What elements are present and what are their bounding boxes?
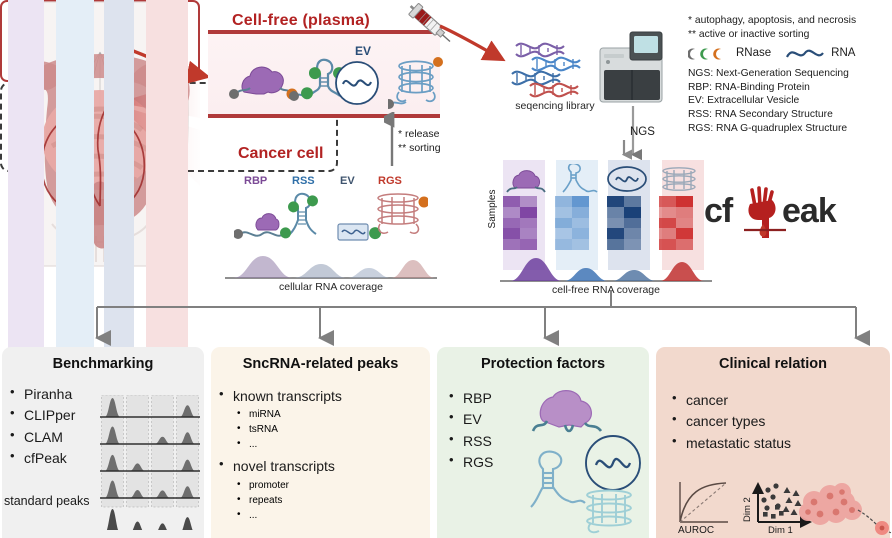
heatmap-cell bbox=[520, 196, 537, 207]
cfpeak-logo: cf eak bbox=[704, 186, 826, 244]
arrow-plasma-to-library bbox=[438, 22, 520, 70]
heatmap-cell bbox=[503, 207, 520, 218]
sequencing-library-caption: seqencing library bbox=[500, 100, 610, 112]
heatmap-cell bbox=[520, 207, 537, 218]
rss-icon bbox=[531, 452, 585, 507]
heatmap-cell bbox=[607, 228, 624, 239]
coverage-peak bbox=[130, 521, 146, 530]
heatmap-cell bbox=[607, 239, 624, 250]
heatmap-cell bbox=[503, 218, 520, 229]
clin-item-cancer-types[interactable]: cancer types bbox=[670, 411, 890, 431]
heatmap-cell bbox=[520, 218, 537, 229]
dim1-axis-label: Dim 1 bbox=[768, 525, 793, 536]
band-rss bbox=[56, 0, 94, 82]
rbp-icon bbox=[533, 391, 601, 431]
heatmap-cell bbox=[676, 207, 693, 218]
heatmap-cell bbox=[572, 218, 589, 229]
heatmap-cell bbox=[659, 239, 676, 250]
plasma-panel-title: Cell-free (plasma) bbox=[232, 12, 370, 30]
sequencing-library-icon bbox=[508, 36, 604, 98]
clin-item-metastatic[interactable]: metastatic status bbox=[670, 433, 890, 453]
footnote-1: * autophagy, apoptosis, and necrosis bbox=[688, 14, 892, 28]
arrow-into-cfpeak bbox=[616, 140, 632, 162]
ev-vesicle-icon bbox=[332, 58, 382, 108]
panel-clinical-title: Clinical relation bbox=[656, 356, 890, 372]
heatmap-cell bbox=[520, 239, 537, 250]
footnote-2: ** active or inactive sorting bbox=[688, 28, 892, 42]
cfpeak-logo-prefix: cf bbox=[704, 192, 732, 231]
cancer-cell-molecules bbox=[234, 186, 428, 248]
heatmap-cell bbox=[607, 207, 624, 218]
heatmap-cell bbox=[659, 218, 676, 229]
auroc-plot: AUROC bbox=[670, 478, 734, 536]
snc-novel-more: ... bbox=[237, 508, 430, 523]
auroc-axis-label: AUROC bbox=[678, 525, 714, 536]
heatmap-cell bbox=[520, 228, 537, 239]
heatmap-cell bbox=[555, 239, 572, 250]
rgs-icon bbox=[587, 491, 631, 533]
panel-protection-title: Protection factors bbox=[437, 356, 649, 372]
panel-sncrna: SncRNA-related peaks known transcripts m… bbox=[211, 347, 430, 538]
panel-clinical-relation: Clinical relation cancer cancer types me… bbox=[656, 347, 890, 538]
heatmap-cell bbox=[503, 239, 520, 250]
glossary-rss: RSS: RNA Secondary Structure bbox=[688, 108, 892, 122]
heatmap-cell bbox=[659, 196, 676, 207]
peak-guide-band bbox=[152, 395, 174, 507]
release-note: * release bbox=[398, 127, 441, 141]
heatmap-cell bbox=[572, 239, 589, 250]
band-ev bbox=[104, 0, 134, 82]
heatmap-cell bbox=[676, 239, 693, 250]
glossary-ngs: NGS: Next-Generation Sequencing bbox=[688, 67, 892, 81]
rna-wave-icon bbox=[785, 47, 825, 61]
heatmap-cell bbox=[676, 228, 693, 239]
bench-footer-label: standard peaks bbox=[4, 494, 89, 508]
panel-sncrna-title: SncRNA-related peaks bbox=[211, 356, 430, 372]
snc-known-mirna: miRNA bbox=[237, 407, 430, 422]
benchmarking-coverage-tracks bbox=[100, 395, 200, 530]
panel-benchmarking: Benchmarking Piranha CLIPper CLAM cfPeak… bbox=[2, 347, 204, 538]
heatmap-cell bbox=[503, 196, 520, 207]
ev-icon bbox=[586, 436, 640, 490]
glossary-rgs: RGS: RNA G-quadruplex Structure bbox=[688, 122, 892, 136]
heatmap-cell bbox=[676, 218, 693, 229]
cancer-panel-title: Cancer cell bbox=[238, 145, 323, 163]
glossary-ev: EV: Extracellular Vesicle bbox=[688, 94, 892, 108]
heatmap-cell bbox=[676, 196, 693, 207]
heatmap-cell bbox=[555, 218, 572, 229]
dim2-axis-label: Dim 2 bbox=[742, 497, 753, 522]
heatmap-cell bbox=[503, 228, 520, 239]
legend-block: * autophagy, apoptosis, and necrosis ** … bbox=[688, 14, 892, 135]
heatmap-molecule-icons bbox=[503, 164, 707, 196]
snc-novel-promoter: promoter bbox=[237, 478, 430, 493]
rnase-icon bbox=[688, 47, 730, 61]
rbp-molecule-icon bbox=[229, 67, 298, 99]
heatmap-cell bbox=[624, 239, 641, 250]
heatmap-cell bbox=[572, 196, 589, 207]
heatmap-cell bbox=[555, 196, 572, 207]
heatmap-cell bbox=[572, 228, 589, 239]
coverage-peak bbox=[180, 517, 196, 530]
sequencer-machine-icon bbox=[596, 30, 668, 108]
coverage-peak bbox=[155, 523, 171, 530]
snc-novel-repeats: repeats bbox=[237, 493, 430, 508]
heatmap-cell bbox=[607, 218, 624, 229]
cfpeak-logo-mark bbox=[742, 186, 788, 242]
protection-factor-icons bbox=[525, 385, 645, 535]
heatmap-cell bbox=[624, 196, 641, 207]
tumor-cluster-metastasis-icon bbox=[792, 476, 892, 538]
heatmap-cell bbox=[624, 228, 641, 239]
glossary-rbp: RBP: RNA-Binding Protein bbox=[688, 81, 892, 95]
samples-axis-label: Samples bbox=[487, 178, 503, 240]
coverage-track bbox=[100, 509, 200, 530]
ngs-label: NGS bbox=[630, 126, 655, 138]
heatmap-cell bbox=[659, 228, 676, 239]
snc-known-more: ... bbox=[237, 437, 430, 452]
figure-canvas: Cell-free (plasma) bbox=[0, 0, 892, 538]
sorting-note: ** sorting bbox=[398, 141, 441, 155]
panel-protection-factors: Protection factors RBP EV RSS RGS bbox=[437, 347, 649, 538]
snc-group-novel[interactable]: novel transcripts bbox=[217, 456, 430, 476]
band-rgs bbox=[146, 0, 188, 82]
cfpeak-logo-suffix: eak bbox=[782, 192, 836, 231]
band-rbp bbox=[8, 0, 44, 82]
heatmap-cell bbox=[624, 218, 641, 229]
heatmap-cell bbox=[624, 207, 641, 218]
heatmap-cell bbox=[572, 207, 589, 218]
panel-benchmarking-title: Benchmarking bbox=[2, 356, 204, 372]
cfpeak-heatmap bbox=[503, 196, 707, 250]
snc-known-tsrna: tsRNA bbox=[237, 422, 430, 437]
rnase-legend-label: RNase bbox=[736, 46, 771, 61]
heatmap-cell bbox=[555, 207, 572, 218]
ev-label: EV bbox=[355, 44, 371, 58]
rna-legend-label: RNA bbox=[831, 46, 855, 61]
branch-connector bbox=[0, 250, 892, 350]
rgs-molecule-icon bbox=[388, 52, 444, 110]
heatmap-cell bbox=[555, 228, 572, 239]
heatmap-cell bbox=[607, 196, 624, 207]
snc-group-known[interactable]: known transcripts bbox=[217, 386, 430, 406]
clin-item-cancer[interactable]: cancer bbox=[670, 390, 890, 410]
heatmap-cell bbox=[659, 207, 676, 218]
coverage-peak bbox=[105, 509, 121, 530]
